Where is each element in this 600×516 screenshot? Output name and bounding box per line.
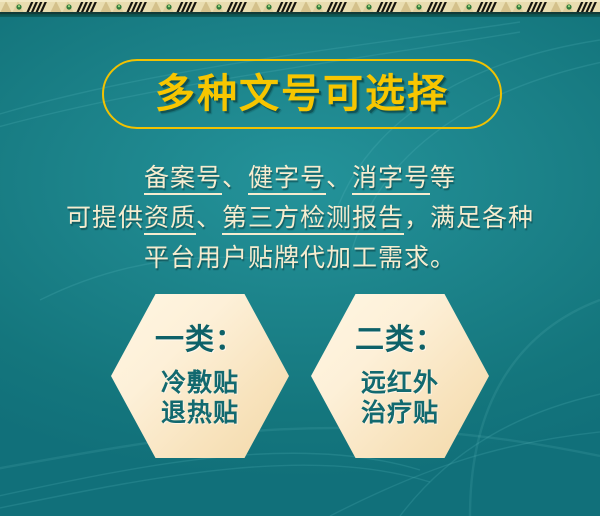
emphasis-underlined-text: 健字号: [248, 163, 326, 195]
body-paragraph: 备案号、健字号、消字号等 可提供资质、第三方检测报告，满足各种 平台用户贴牌代加…: [0, 158, 600, 278]
body-text: ，满足各种: [404, 203, 534, 232]
category-hexagon-one: 一类： 冷敷贴 退热贴: [111, 294, 289, 458]
promotional-poster: 多种文号可选择 备案号、健字号、消字号等 可提供资质、第三方检测报告，满足各种 …: [0, 0, 600, 516]
border-dark-strip: [0, 14, 600, 17]
body-text: 、: [196, 203, 222, 232]
category-one-item-1: 冷敷贴: [161, 368, 239, 398]
category-one-items: 冷敷贴 退热贴: [161, 368, 239, 428]
emphasis-underlined-text: 第三方检测报告: [222, 203, 404, 235]
emphasis-underlined-text: 备案号: [144, 163, 222, 195]
body-text: 、: [222, 163, 248, 192]
category-one-item-2: 退热贴: [161, 398, 239, 428]
category-two-items: 远红外 治疗贴: [361, 368, 439, 428]
category-hexagon-two: 二类： 远红外 治疗贴: [311, 294, 489, 458]
body-line-3: 平台用户贴牌代加工需求。: [0, 238, 600, 278]
body-line-1: 备案号、健字号、消字号等: [0, 158, 600, 198]
emphasis-underlined-text: 资质: [144, 203, 196, 235]
category-one-title: 一类：: [155, 324, 245, 356]
headline-pill: 多种文号可选择: [102, 59, 502, 129]
body-text: 等: [430, 163, 456, 192]
category-two-title: 二类：: [355, 324, 445, 356]
category-two-item-2: 治疗贴: [361, 398, 439, 428]
page-title: 多种文号可选择: [155, 74, 449, 114]
ornamental-gold-border: [0, 0, 600, 14]
body-text: 平台用户贴牌代加工需求。: [144, 243, 456, 272]
body-line-2: 可提供资质、第三方检测报告，满足各种: [0, 198, 600, 238]
body-text: 、: [326, 163, 352, 192]
emphasis-underlined-text: 消字号: [352, 163, 430, 195]
category-two-item-1: 远红外: [361, 368, 439, 398]
body-text: 可提供: [66, 203, 144, 232]
